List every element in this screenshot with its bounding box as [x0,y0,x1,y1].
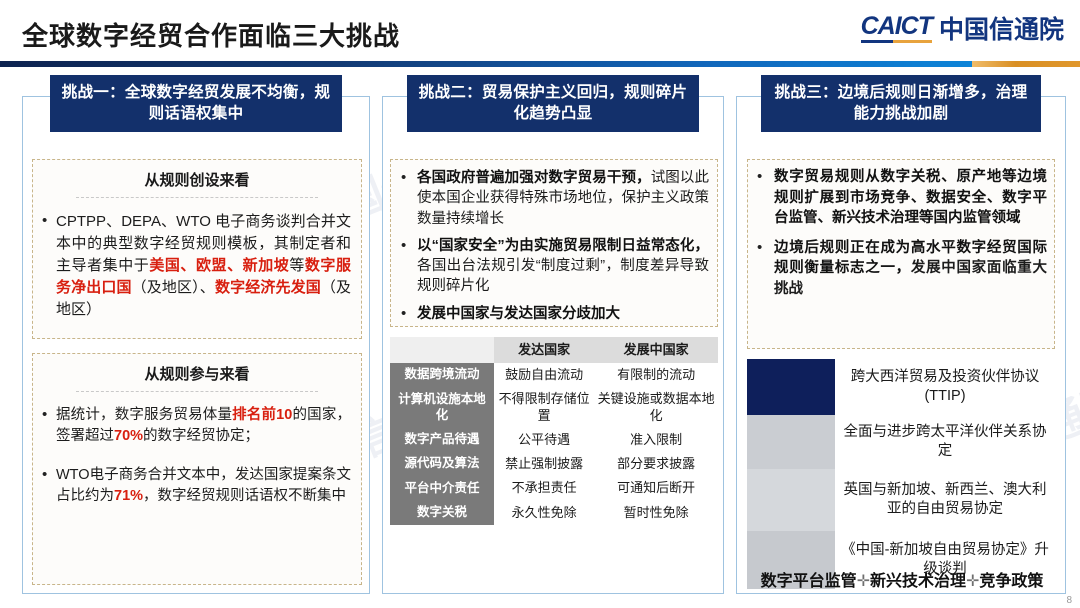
challenge-3-body: 数字贸易规则从数字关税、原产地等边境规则扩展到市场竞争、数据安全、数字平台监管、… [737,157,1065,593]
rich-text: 数字贸易规则从数字关税、原产地等边境规则扩展到市场竞争、数据安全、数字平台监管、… [774,169,1047,226]
table-row: 平台中介责任 不承担责任 可通知后断开 [390,476,718,500]
rich-text: WTO电子商务合并文本中，发达国家提案条文占比约为71%，数字经贸规则话语权不断… [56,467,351,504]
timeline-item: 全面与进步跨太平洋伙伴关系协定 [747,415,1055,469]
challenge-card-1: 挑战一：全球数字经贸发展不均衡，规则话语权集中 从规则创设来看 CPTPP、DE… [22,96,370,594]
list-item: WTO电子商务合并文本中，发达国家提案条文占比约为71%，数字经贸规则话语权不断… [39,465,351,506]
row-label: 平台中介责任 [390,476,494,500]
table-head: 发达国家 发展中国家 [390,337,718,363]
rich-text: 边境后规则正在成为高水平数字经贸国际规则衡量标志之一，发展中国家面临重大挑战 [774,240,1047,297]
challenge-card-2: 挑战二：贸易保护主义回归，规则碎片化趋势凸显 各国政府普遍加强对数字贸易干预，试… [382,96,724,594]
rule-creation-list: CPTPP、DEPA、WTO 电子商务谈判合并文本中的典型数字经贸规则模板，其制… [33,205,361,336]
governance-domains-footer: 数字平台监管✛新兴技术治理✛竞争政策 [739,567,1065,591]
challenge-2-list: 各国政府普遍加强对数字贸易干预，试图以此使本国企业获得特殊市场地位，保护主义政策… [391,160,717,335]
cell-developing: 部分要求披露 [594,452,718,476]
timeline-item: 跨大西洋贸易及投资伙伴协议(TTIP) [747,359,1055,415]
cell-developing: 暂时性免除 [594,501,718,525]
rich-text: 发展中国家与发达国家分歧加大 [417,306,620,322]
list-item: 据统计，数字服务贸易体量排名前10的国家，签署超过70%的数字经贸协定； [39,405,351,446]
list-item: CPTPP、DEPA、WTO 电子商务谈判合并文本中的典型数字经贸规则模板，其制… [39,211,351,320]
challenge-1-heading: 挑战一：全球数字经贸发展不均衡，规则话语权集中 [50,75,342,132]
table-col-header-blank [390,337,494,363]
caict-logo: CAICT 中国信通院 [861,14,1064,43]
timeline-item: 英国与新加坡、新西兰、澳大利亚的自由贸易协定 [747,469,1055,531]
list-item: 发展中国家与发达国家分歧加大 [395,304,709,324]
challenge-3-heading: 挑战三：边境后规则日渐增多，治理能力挑战加剧 [761,75,1041,132]
slide: 全球数字经贸合作面临三大挑战 CAICT 中国信通院 CAICT 中国信通院 C… [0,0,1080,608]
list-item: 边境后规则正在成为高水平数字经贸国际规则衡量标志之一，发展中国家面临重大挑战 [750,238,1047,300]
timeline-swatch [747,469,835,531]
header-divider [0,61,1080,67]
timeline-label: 跨大西洋贸易及投资伙伴协议(TTIP) [835,359,1055,415]
table-col-header-developing: 发展中国家 [594,337,718,363]
challenge-card-3: 挑战三：边境后规则日渐增多，治理能力挑战加剧 数字贸易规则从数字关税、原产地等边… [736,96,1066,594]
cell-developed: 永久性免除 [494,501,594,525]
rule-participation-box: 从规则参与来看 据统计，数字服务贸易体量排名前10的国家，签署超过70%的数字经… [32,353,362,585]
challenge-1-body: 从规则创设来看 CPTPP、DEPA、WTO 电子商务谈判合并文本中的典型数字经… [23,157,369,593]
cell-developed: 不得限制存储位置 [494,387,594,428]
page-title: 全球数字经贸合作面临三大挑战 [22,16,400,53]
challenge-3-bullet-box: 数字贸易规则从数字关税、原产地等边境规则扩展到市场竞争、数据安全、数字平台监管、… [747,159,1055,349]
cell-developing: 有限制的流动 [594,363,718,387]
challenge-columns: 挑战一：全球数字经贸发展不均衡，规则话语权集中 从规则创设来看 CPTPP、DE… [0,96,1080,596]
cell-developed: 禁止强制披露 [494,452,594,476]
table-row: 源代码及算法 禁止强制披露 部分要求披露 [390,452,718,476]
cell-developed: 公平待遇 [494,428,594,452]
list-item: 以“国家安全”为由实施贸易限制日益常态化，各国出台法规引发“制度过剩”，制度差异… [395,236,709,297]
list-item: 数字贸易规则从数字关税、原产地等边境规则扩展到市场竞争、数据安全、数字平台监管、… [750,167,1047,229]
table-row: 计算机设施本地化 不得限制存储位置 关键设施或数据本地化 [390,387,718,428]
rich-text: 数字平台监管✛新兴技术治理✛竞争政策 [761,573,1044,590]
challenge-2-heading: 挑战二：贸易保护主义回归，规则碎片化趋势凸显 [407,75,699,132]
table-row: 数字关税 永久性免除 暂时性免除 [390,501,718,525]
divider-gold-segment [972,61,1080,67]
challenge-3-list: 数字贸易规则从数字关税、原产地等边境规则扩展到市场竞争、数据安全、数字平台监管、… [748,160,1054,312]
row-label: 源代码及算法 [390,452,494,476]
table-header-row: 发达国家 发展中国家 [390,337,718,363]
row-label: 数据跨境流动 [390,363,494,387]
row-label: 计算机设施本地化 [390,387,494,428]
cell-developed: 鼓励自由流动 [494,363,594,387]
list-item: 各国政府普遍加强对数字贸易干预，试图以此使本国企业获得特殊市场地位，保护主义政策… [395,168,709,229]
agreements-timeline: 跨大西洋贸易及投资伙伴协议(TTIP) 全面与进步跨太平洋伙伴关系协定 英国与新… [747,359,1055,595]
cell-developed: 不承担责任 [494,476,594,500]
rule-creation-title: 从规则创设来看 [33,160,361,205]
timeline-swatch [747,415,835,469]
cell-developing: 关键设施或数据本地化 [594,387,718,428]
challenge-2-body: 各国政府普遍加强对数字贸易干预，试图以此使本国企业获得特殊市场地位，保护主义政策… [383,157,723,593]
table-col-header-developed: 发达国家 [494,337,594,363]
rule-creation-box: 从规则创设来看 CPTPP、DEPA、WTO 电子商务谈判合并文本中的典型数字经… [32,159,362,339]
rich-text: CPTPP、DEPA、WTO 电子商务谈判合并文本中的典型数字经贸规则模板，其制… [56,213,351,318]
divider-blue-segment [0,61,972,67]
rich-text: 据统计，数字服务贸易体量排名前10的国家，签署超过70%的数字经贸协定； [56,407,351,444]
cell-developing: 准入限制 [594,428,718,452]
table-body: 数据跨境流动 鼓励自由流动 有限制的流动 计算机设施本地化 不得限制存储位置 关… [390,363,718,525]
row-label: 数字关税 [390,501,494,525]
cell-developing: 可通知后断开 [594,476,718,500]
rich-text: 以“国家安全”为由实施贸易限制日益常态化，各国出台法规引发“制度过剩”，制度差异… [417,238,709,295]
rich-text: 各国政府普遍加强对数字贸易干预，试图以此使本国企业获得特殊市场地位，保护主义政策… [417,170,709,227]
page-number: 8 [1066,595,1072,606]
table-row: 数据跨境流动 鼓励自由流动 有限制的流动 [390,363,718,387]
slide-header: 全球数字经贸合作面临三大挑战 CAICT 中国信通院 [0,0,1080,70]
challenge-2-bullet-box: 各国政府普遍加强对数字贸易干预，试图以此使本国企业获得特殊市场地位，保护主义政策… [390,159,718,327]
timeline-label: 全面与进步跨太平洋伙伴关系协定 [835,415,1055,469]
table-row: 数字产品待遇 公平待遇 准入限制 [390,428,718,452]
rule-participation-list: 据统计，数字服务贸易体量排名前10的国家，签署超过70%的数字经贸协定； WTO… [33,399,361,533]
logo-name-text: 中国信通院 [939,18,1064,43]
timeline-swatch [747,359,835,415]
rules-comparison-table: 发达国家 发展中国家 数据跨境流动 鼓励自由流动 有限制的流动 计算机设施本地化… [390,337,718,525]
timeline-label: 英国与新加坡、新西兰、澳大利亚的自由贸易协定 [835,469,1055,531]
row-label: 数字产品待遇 [390,428,494,452]
rule-participation-title: 从规则参与来看 [33,354,361,399]
logo-mark-text: CAICT [861,14,932,43]
